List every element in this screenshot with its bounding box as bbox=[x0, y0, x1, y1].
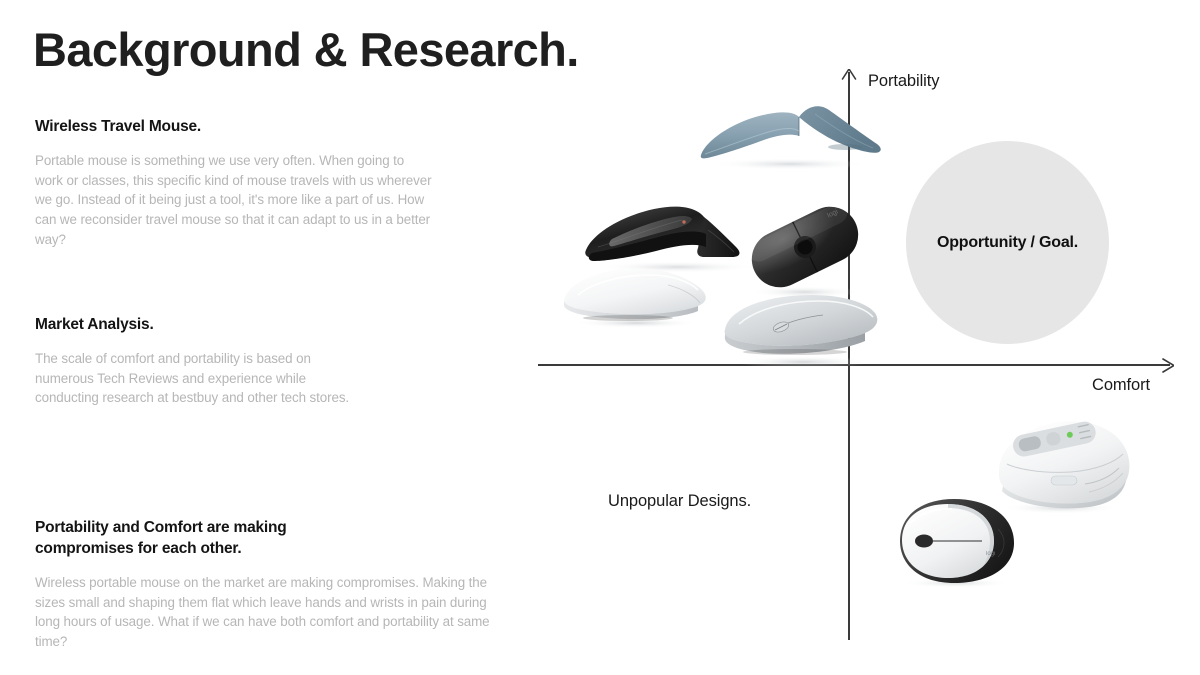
portability-comfort-matrix: Portability Comfort Opportunity / Goal. … bbox=[520, 40, 1200, 670]
section-heading: Wireless Travel Mouse. bbox=[35, 117, 435, 138]
flat-mouse-silver-image bbox=[715, 280, 885, 370]
section-body: Portable mouse is something we use very … bbox=[35, 151, 435, 250]
section-heading: Portability and Comfort are making compr… bbox=[35, 518, 345, 560]
svg-text:logi: logi bbox=[986, 551, 995, 557]
section-wireless-travel-mouse: Wireless Travel Mouse. Portable mouse is… bbox=[35, 117, 435, 249]
arc-mouse-blue-image bbox=[695, 100, 885, 170]
section-market-analysis: Market Analysis. The scale of comfort an… bbox=[35, 315, 355, 408]
portability-axis-arrow-icon bbox=[841, 69, 857, 83]
opportunity-goal-label: Opportunity / Goal. bbox=[937, 234, 1078, 252]
page-title: Background & Research. bbox=[33, 24, 579, 76]
section-heading: Market Analysis. bbox=[35, 315, 355, 336]
section-body: The scale of comfort and portability is … bbox=[35, 349, 355, 408]
section-portability-comfort-tradeoff: Portability and Comfort are making compr… bbox=[35, 518, 515, 652]
magic-mouse-white-image bbox=[558, 255, 713, 330]
opportunity-goal-marker: Opportunity / Goal. bbox=[906, 141, 1109, 344]
portability-axis-label: Portability bbox=[868, 72, 939, 91]
comfort-axis-label: Comfort bbox=[1092, 376, 1150, 395]
top-mouse-white-image: logi bbox=[890, 495, 1025, 590]
section-body: Wireless portable mouse on the market ar… bbox=[35, 573, 515, 652]
unpopular-designs-label: Unpopular Designs. bbox=[608, 492, 751, 511]
comfort-axis-arrow-icon bbox=[1158, 358, 1174, 373]
